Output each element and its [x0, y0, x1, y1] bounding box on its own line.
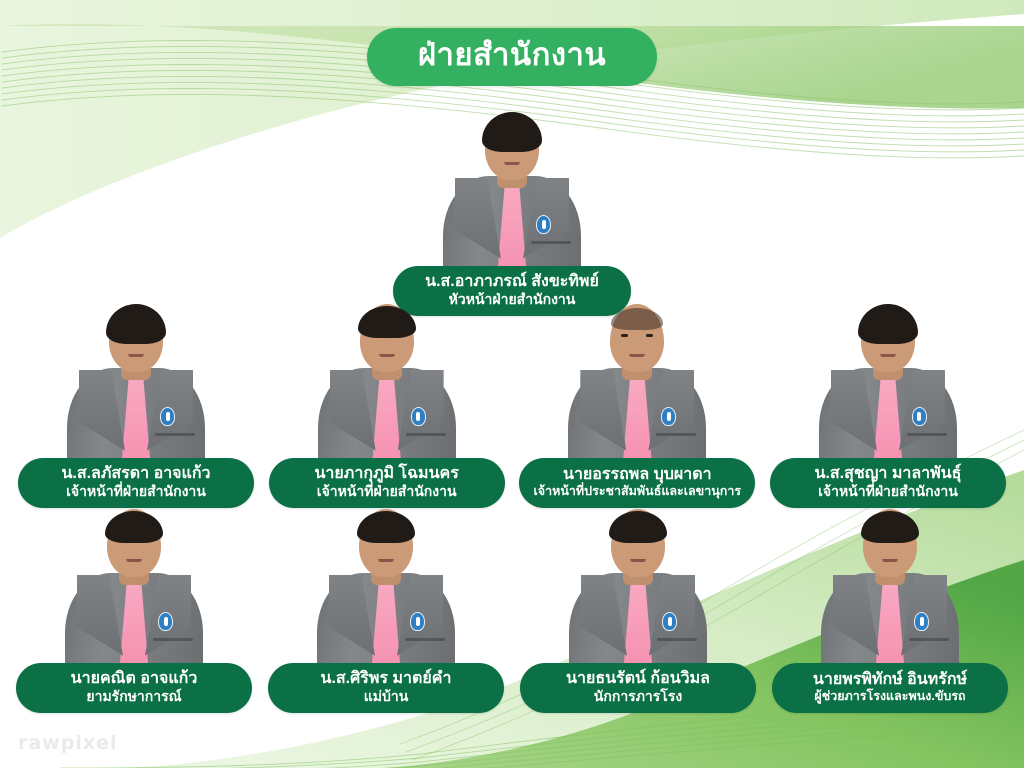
name-plate: นายภากุภูมิ โฉมนคร เจ้าหน้าที่ฝ่ายสำนักง…	[269, 458, 505, 508]
name-plate: นายพรพิทักษ์ อินทรักษ์ ผู้ช่วยภารโรงและพ…	[772, 663, 1008, 713]
portrait-female-short-hair-icon	[311, 505, 461, 677]
watermark-text: rawpixel	[18, 732, 118, 754]
person-role: ยามรักษาการณ์	[26, 688, 242, 705]
portrait-male-short-hair-icon	[312, 300, 462, 472]
person-card-2-3[interactable]: นายอรรถพล บุบผาดา เจ้าหน้าที่ประชาสัมพัน…	[519, 300, 755, 508]
portrait-female-long-hair-icon	[61, 300, 211, 472]
portrait-female-long-hair-icon	[813, 300, 963, 472]
person-role: เจ้าหน้าที่ฝ่ายสำนักงาน	[279, 483, 495, 500]
person-name: น.ส.สุชญา มาลาพันธุ์	[780, 464, 996, 483]
org-chart-slide: rawpixel ฝ่ายสำนักงาน น.ส.อาภ	[0, 0, 1024, 768]
org-row-head: น.ส.อาภาภรณ์ สังขะทิพย์ หัวหน้าฝ่ายสำนัก…	[0, 104, 1024, 316]
person-role: ผู้ช่วยภารโรงและพนง.ขับรถ	[782, 689, 998, 704]
person-card-3-4[interactable]: นายพรพิทักษ์ อินทรักษ์ ผู้ช่วยภารโรงและพ…	[772, 505, 1008, 713]
person-role: เจ้าหน้าที่ฝ่ายสำนักงาน	[780, 483, 996, 500]
person-card-2-4[interactable]: น.ส.สุชญา มาลาพันธุ์ เจ้าหน้าที่ฝ่ายสำนั…	[770, 300, 1006, 508]
person-role: แม่บ้าน	[278, 688, 494, 705]
name-plate: น.ส.ลภัสรดา อาจแก้ว เจ้าหน้าที่ฝ่ายสำนัก…	[18, 458, 254, 508]
name-plate: นายอรรถพล บุบผาดา เจ้าหน้าที่ประชาสัมพัน…	[519, 458, 755, 508]
portrait-male-bald-icon	[562, 300, 712, 472]
person-card-2-1[interactable]: น.ส.ลภัสรดา อาจแก้ว เจ้าหน้าที่ฝ่ายสำนัก…	[18, 300, 254, 508]
org-row-two: น.ส.ลภัสรดา อาจแก้ว เจ้าหน้าที่ฝ่ายสำนัก…	[0, 300, 1024, 508]
person-card-2-2[interactable]: นายภากุภูมิ โฉมนคร เจ้าหน้าที่ฝ่ายสำนักง…	[269, 300, 505, 508]
person-name: น.ส.ศิริพร มาตย์คำ	[278, 669, 494, 688]
person-name: นายพรพิทักษ์ อินทรักษ์	[782, 670, 998, 689]
person-card-3-1[interactable]: นายคณิต อาจแก้ว ยามรักษาการณ์	[16, 505, 252, 713]
person-role: เจ้าหน้าที่ฝ่ายสำนักงาน	[28, 483, 244, 500]
page-title: ฝ่ายสำนักงาน	[367, 28, 657, 86]
name-plate: น.ส.สุชญา มาลาพันธุ์ เจ้าหน้าที่ฝ่ายสำนั…	[770, 458, 1006, 508]
portrait-male-short-hair-icon	[59, 505, 209, 677]
name-plate: นายคณิต อาจแก้ว ยามรักษาการณ์	[16, 663, 252, 713]
person-name: นายภากุภูมิ โฉมนคร	[279, 464, 495, 483]
person-card-3-3[interactable]: นายธนรัตน์ ก้อนวิมล นักการภารโรง	[520, 505, 756, 713]
person-name: นายธนรัตน์ ก้อนวิมล	[530, 669, 746, 688]
person-name: นายอรรถพล บุบผาดา	[529, 465, 745, 484]
person-role: เจ้าหน้าที่ประชาสัมพันธ์และเลขานุการ	[529, 484, 745, 499]
portrait-male-short-hair-icon	[815, 505, 965, 677]
portrait-male-short-hair-icon	[563, 505, 713, 677]
person-card-head[interactable]: น.ส.อาภาภรณ์ สังขะทิพย์ หัวหน้าฝ่ายสำนัก…	[387, 104, 637, 316]
person-role: นักการภารโรง	[530, 688, 746, 705]
person-name: น.ส.อาภาภรณ์ สังขะทิพย์	[403, 272, 621, 291]
person-name: น.ส.ลภัสรดา อาจแก้ว	[28, 464, 244, 483]
portrait-female-long-hair-icon	[437, 104, 587, 280]
name-plate: นายธนรัตน์ ก้อนวิมล นักการภารโรง	[520, 663, 756, 713]
org-row-three: นายคณิต อาจแก้ว ยามรักษาการณ์ น.ส.ศิริพร…	[0, 505, 1024, 713]
person-name: นายคณิต อาจแก้ว	[26, 669, 242, 688]
person-card-3-2[interactable]: น.ส.ศิริพร มาตย์คำ แม่บ้าน	[268, 505, 504, 713]
name-plate: น.ส.ศิริพร มาตย์คำ แม่บ้าน	[268, 663, 504, 713]
